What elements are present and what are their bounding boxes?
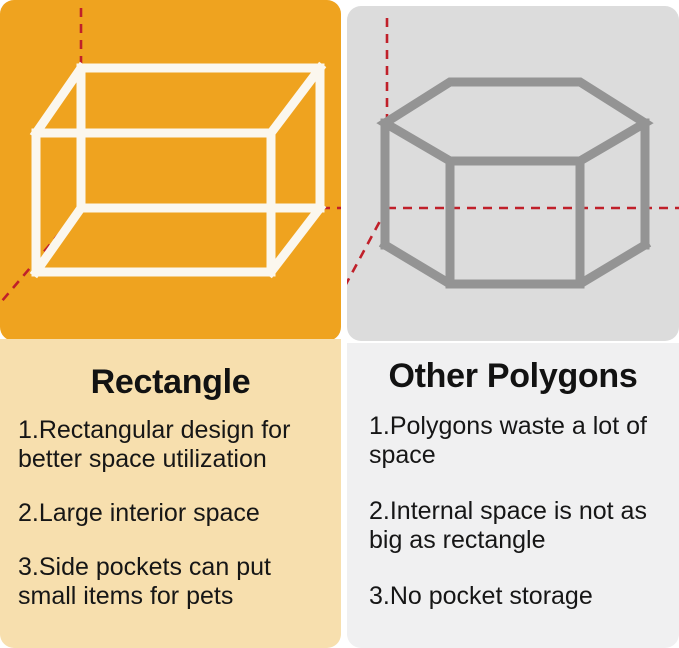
list-item: 3.No pocket storage xyxy=(369,582,669,611)
list-item: 1.Polygons waste a lot of space xyxy=(369,412,669,470)
list-item: 1.Rectangular design for better space ut… xyxy=(18,416,325,474)
cuboid-edge-bottom-left-connector xyxy=(36,208,81,272)
rectangle-text-panel: Rectangle 1.Rectangular design for bette… xyxy=(0,339,341,648)
cuboid-edge-top-right-connector xyxy=(271,68,320,133)
column-rectangle: Rectangle 1.Rectangular design for bette… xyxy=(0,0,341,648)
cuboid-edge-bottom-right-connector xyxy=(271,208,320,272)
polygons-title: Other Polygons xyxy=(347,343,679,400)
rectangle-illustration-panel xyxy=(0,0,341,341)
hexagonal-prism-edges-group xyxy=(385,82,645,284)
prism-bottom-front-edges xyxy=(385,245,645,284)
axis-lines-group xyxy=(0,8,341,308)
column-polygons: Other Polygons 1.Polygons waste a lot of… xyxy=(347,0,679,648)
rectangular-cuboid-wireframe-icon xyxy=(0,0,341,341)
cuboid-edges-group xyxy=(36,68,320,272)
cuboid-edge-top-left-connector xyxy=(36,68,81,133)
list-item: 3.Side pockets can put small items for p… xyxy=(18,553,325,611)
hexagonal-prism-wireframe-icon xyxy=(347,6,679,341)
prism-top-hexagon xyxy=(385,82,645,161)
polygons-text-panel: Other Polygons 1.Polygons waste a lot of… xyxy=(347,343,679,648)
list-item: 2.Internal space is not as big as rectan… xyxy=(369,497,669,555)
cuboid-front-face xyxy=(36,133,271,272)
polygons-illustration-panel xyxy=(347,6,679,341)
polygons-bullet-list: 1.Polygons waste a lot of space 2.Intern… xyxy=(347,400,679,611)
rectangle-title: Rectangle xyxy=(0,339,341,406)
cuboid-back-face xyxy=(81,68,320,208)
rectangle-bullet-list: 1.Rectangular design for better space ut… xyxy=(0,406,341,611)
comparison-infographic: Rectangle 1.Rectangular design for bette… xyxy=(0,0,679,648)
list-item: 2.Large interior space xyxy=(18,499,325,528)
